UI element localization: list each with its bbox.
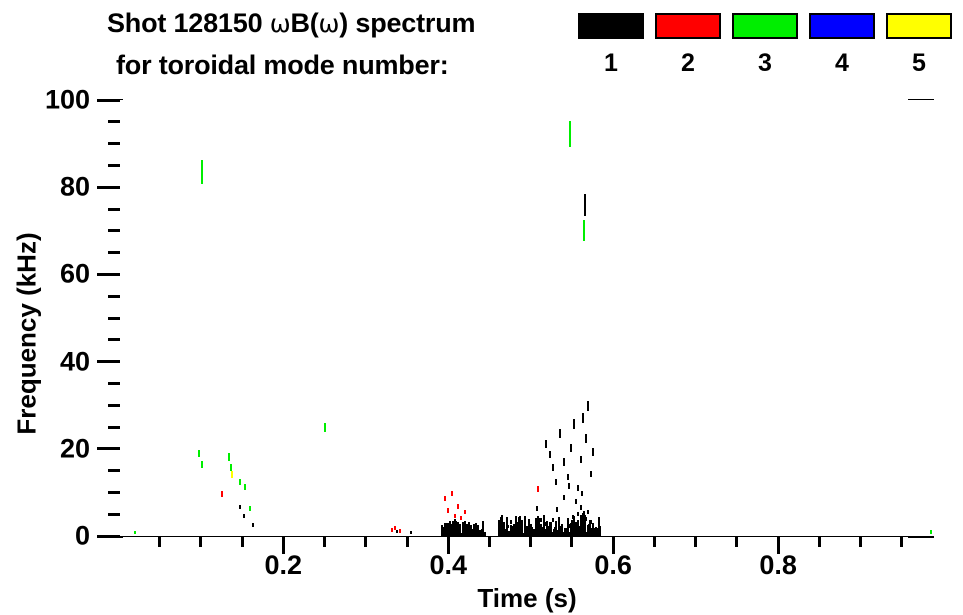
- x-tick-label: 0.2: [238, 552, 328, 579]
- plot-title-line-1: Shot 128150 ωB(ω) spectrum: [107, 8, 475, 39]
- x-tick-minor: [694, 537, 697, 547]
- data-point-mode-3: [930, 530, 932, 533]
- x-tick-minor: [488, 537, 491, 547]
- data-point-mode-1: [581, 491, 583, 496]
- data-point-mode-2: [457, 504, 459, 509]
- data-point-mode-1: [410, 531, 412, 534]
- title-shot-text: Shot 128150: [107, 8, 270, 38]
- data-point-mode-1: [536, 506, 538, 511]
- data-point-mode-3: [569, 121, 571, 147]
- x-tick-label: 0.8: [733, 552, 823, 579]
- legend-label-mode-1: 1: [578, 51, 644, 76]
- legend-swatch-mode-5: [886, 13, 952, 39]
- x-tick-minor: [529, 537, 532, 547]
- plot-data-area: [120, 100, 934, 536]
- data-point-mode-1: [563, 458, 565, 465]
- data-point-mode-1: [592, 448, 594, 456]
- omega-symbol-1: ω: [270, 9, 291, 38]
- x-tick-minor: [570, 537, 573, 547]
- data-point-mode-3: [198, 450, 200, 458]
- data-point-mode-2: [444, 496, 446, 501]
- data-point-mode-1: [584, 194, 586, 216]
- y-tick-label: 0: [0, 523, 90, 550]
- data-point-mode-1: [510, 520, 512, 524]
- data-point-mode-1: [587, 510, 589, 514]
- legend-swatch-mode-4: [809, 13, 875, 39]
- data-point-mode-3: [201, 461, 203, 468]
- data-point-mode-2: [451, 491, 453, 496]
- data-point-mode-1: [252, 523, 254, 527]
- x-tick-minor: [859, 537, 862, 547]
- spectrogram-figure: Shot 128150 ωB(ω) spectrum for toroidal …: [0, 0, 963, 615]
- x-tick-minor: [364, 537, 367, 547]
- data-point-mode-3: [244, 484, 246, 490]
- data-point-mode-1: [575, 499, 577, 504]
- legend-swatch-mode-1: [578, 13, 644, 39]
- legend-label-mode-3: 3: [732, 51, 798, 76]
- legend: 12345: [578, 13, 958, 85]
- legend-label-mode-2: 2: [655, 51, 721, 76]
- x-tick-minor: [241, 537, 244, 547]
- data-point-mode-1: [599, 526, 601, 536]
- data-point-mode-1: [555, 479, 557, 485]
- data-point-mode-3: [228, 453, 230, 461]
- data-point-mode-2: [447, 508, 449, 513]
- data-point-mode-1: [567, 474, 569, 480]
- plot-title-line-2: for toroidal mode number:: [116, 50, 449, 81]
- data-point-mode-2: [537, 486, 539, 492]
- y-axis-title: Frequency (kHz): [12, 164, 43, 504]
- legend-swatch-mode-2: [655, 13, 721, 39]
- x-tick-minor: [735, 537, 738, 547]
- legend-item-mode-3[interactable]: 3: [732, 13, 798, 76]
- data-point-mode-1: [570, 444, 572, 452]
- data-point-mode-1: [556, 507, 558, 512]
- data-point-mode-3: [324, 423, 326, 432]
- data-point-mode-1: [243, 514, 245, 518]
- legend-item-mode-1[interactable]: 1: [578, 13, 644, 76]
- data-point-mode-1: [552, 464, 554, 471]
- omega-symbol-2: ω: [319, 9, 340, 38]
- data-point-mode-1: [577, 485, 579, 491]
- x-tick-minor: [158, 537, 161, 547]
- data-point-mode-1: [573, 419, 575, 428]
- x-tick-minor: [323, 537, 326, 547]
- data-point-mode-1: [568, 483, 570, 489]
- legend-item-mode-4[interactable]: 4: [809, 13, 875, 76]
- legend-item-mode-2[interactable]: 2: [655, 13, 721, 76]
- data-point-mode-1: [563, 495, 565, 500]
- data-point-mode-1: [559, 429, 561, 438]
- y-tick-label: 100: [0, 87, 90, 114]
- title-b-text: B(: [290, 8, 318, 38]
- data-point-mode-1: [239, 505, 241, 510]
- data-point-mode-1: [580, 505, 582, 510]
- title-spectrum-text: ) spectrum: [339, 8, 475, 38]
- x-tick-minor: [818, 537, 821, 547]
- legend-item-mode-5[interactable]: 5: [886, 13, 952, 76]
- x-tick-label: 0.4: [403, 552, 493, 579]
- x-tick-label: 0.6: [568, 552, 658, 579]
- data-point-mode-1: [587, 401, 589, 411]
- data-point-mode-3: [201, 160, 203, 184]
- legend-label-mode-5: 5: [886, 51, 952, 76]
- data-point-mode-1: [590, 471, 592, 478]
- x-tick-minor: [900, 537, 903, 547]
- data-point-mode-1: [577, 512, 579, 516]
- data-point-mode-2: [454, 514, 456, 518]
- x-tick-minor: [653, 537, 656, 547]
- data-point-mode-3: [249, 506, 251, 511]
- data-point-mode-2: [221, 491, 223, 496]
- data-point-mode-1: [549, 451, 551, 459]
- data-point-mode-1: [545, 440, 547, 448]
- data-point-mode-2: [399, 529, 401, 532]
- x-tick-minor: [406, 537, 409, 547]
- data-point-mode-2: [391, 528, 393, 531]
- x-tick-minor: [199, 537, 202, 547]
- data-point-mode-5: [231, 471, 233, 478]
- data-point-mode-3: [583, 220, 585, 240]
- data-point-mode-3: [239, 479, 241, 485]
- data-point-mode-1: [580, 456, 582, 463]
- data-point-mode-3: [134, 531, 136, 534]
- legend-label-mode-4: 4: [809, 51, 875, 76]
- data-point-mode-3: [230, 464, 232, 471]
- legend-swatch-mode-3: [732, 13, 798, 39]
- x-axis-title: Time (s): [120, 583, 934, 614]
- data-point-mode-2: [394, 526, 396, 530]
- data-point-mode-1: [582, 413, 584, 423]
- data-point-mode-2: [464, 510, 466, 514]
- data-point-mode-1: [484, 532, 486, 536]
- data-point-mode-2: [460, 516, 462, 520]
- data-point-mode-1: [585, 434, 587, 443]
